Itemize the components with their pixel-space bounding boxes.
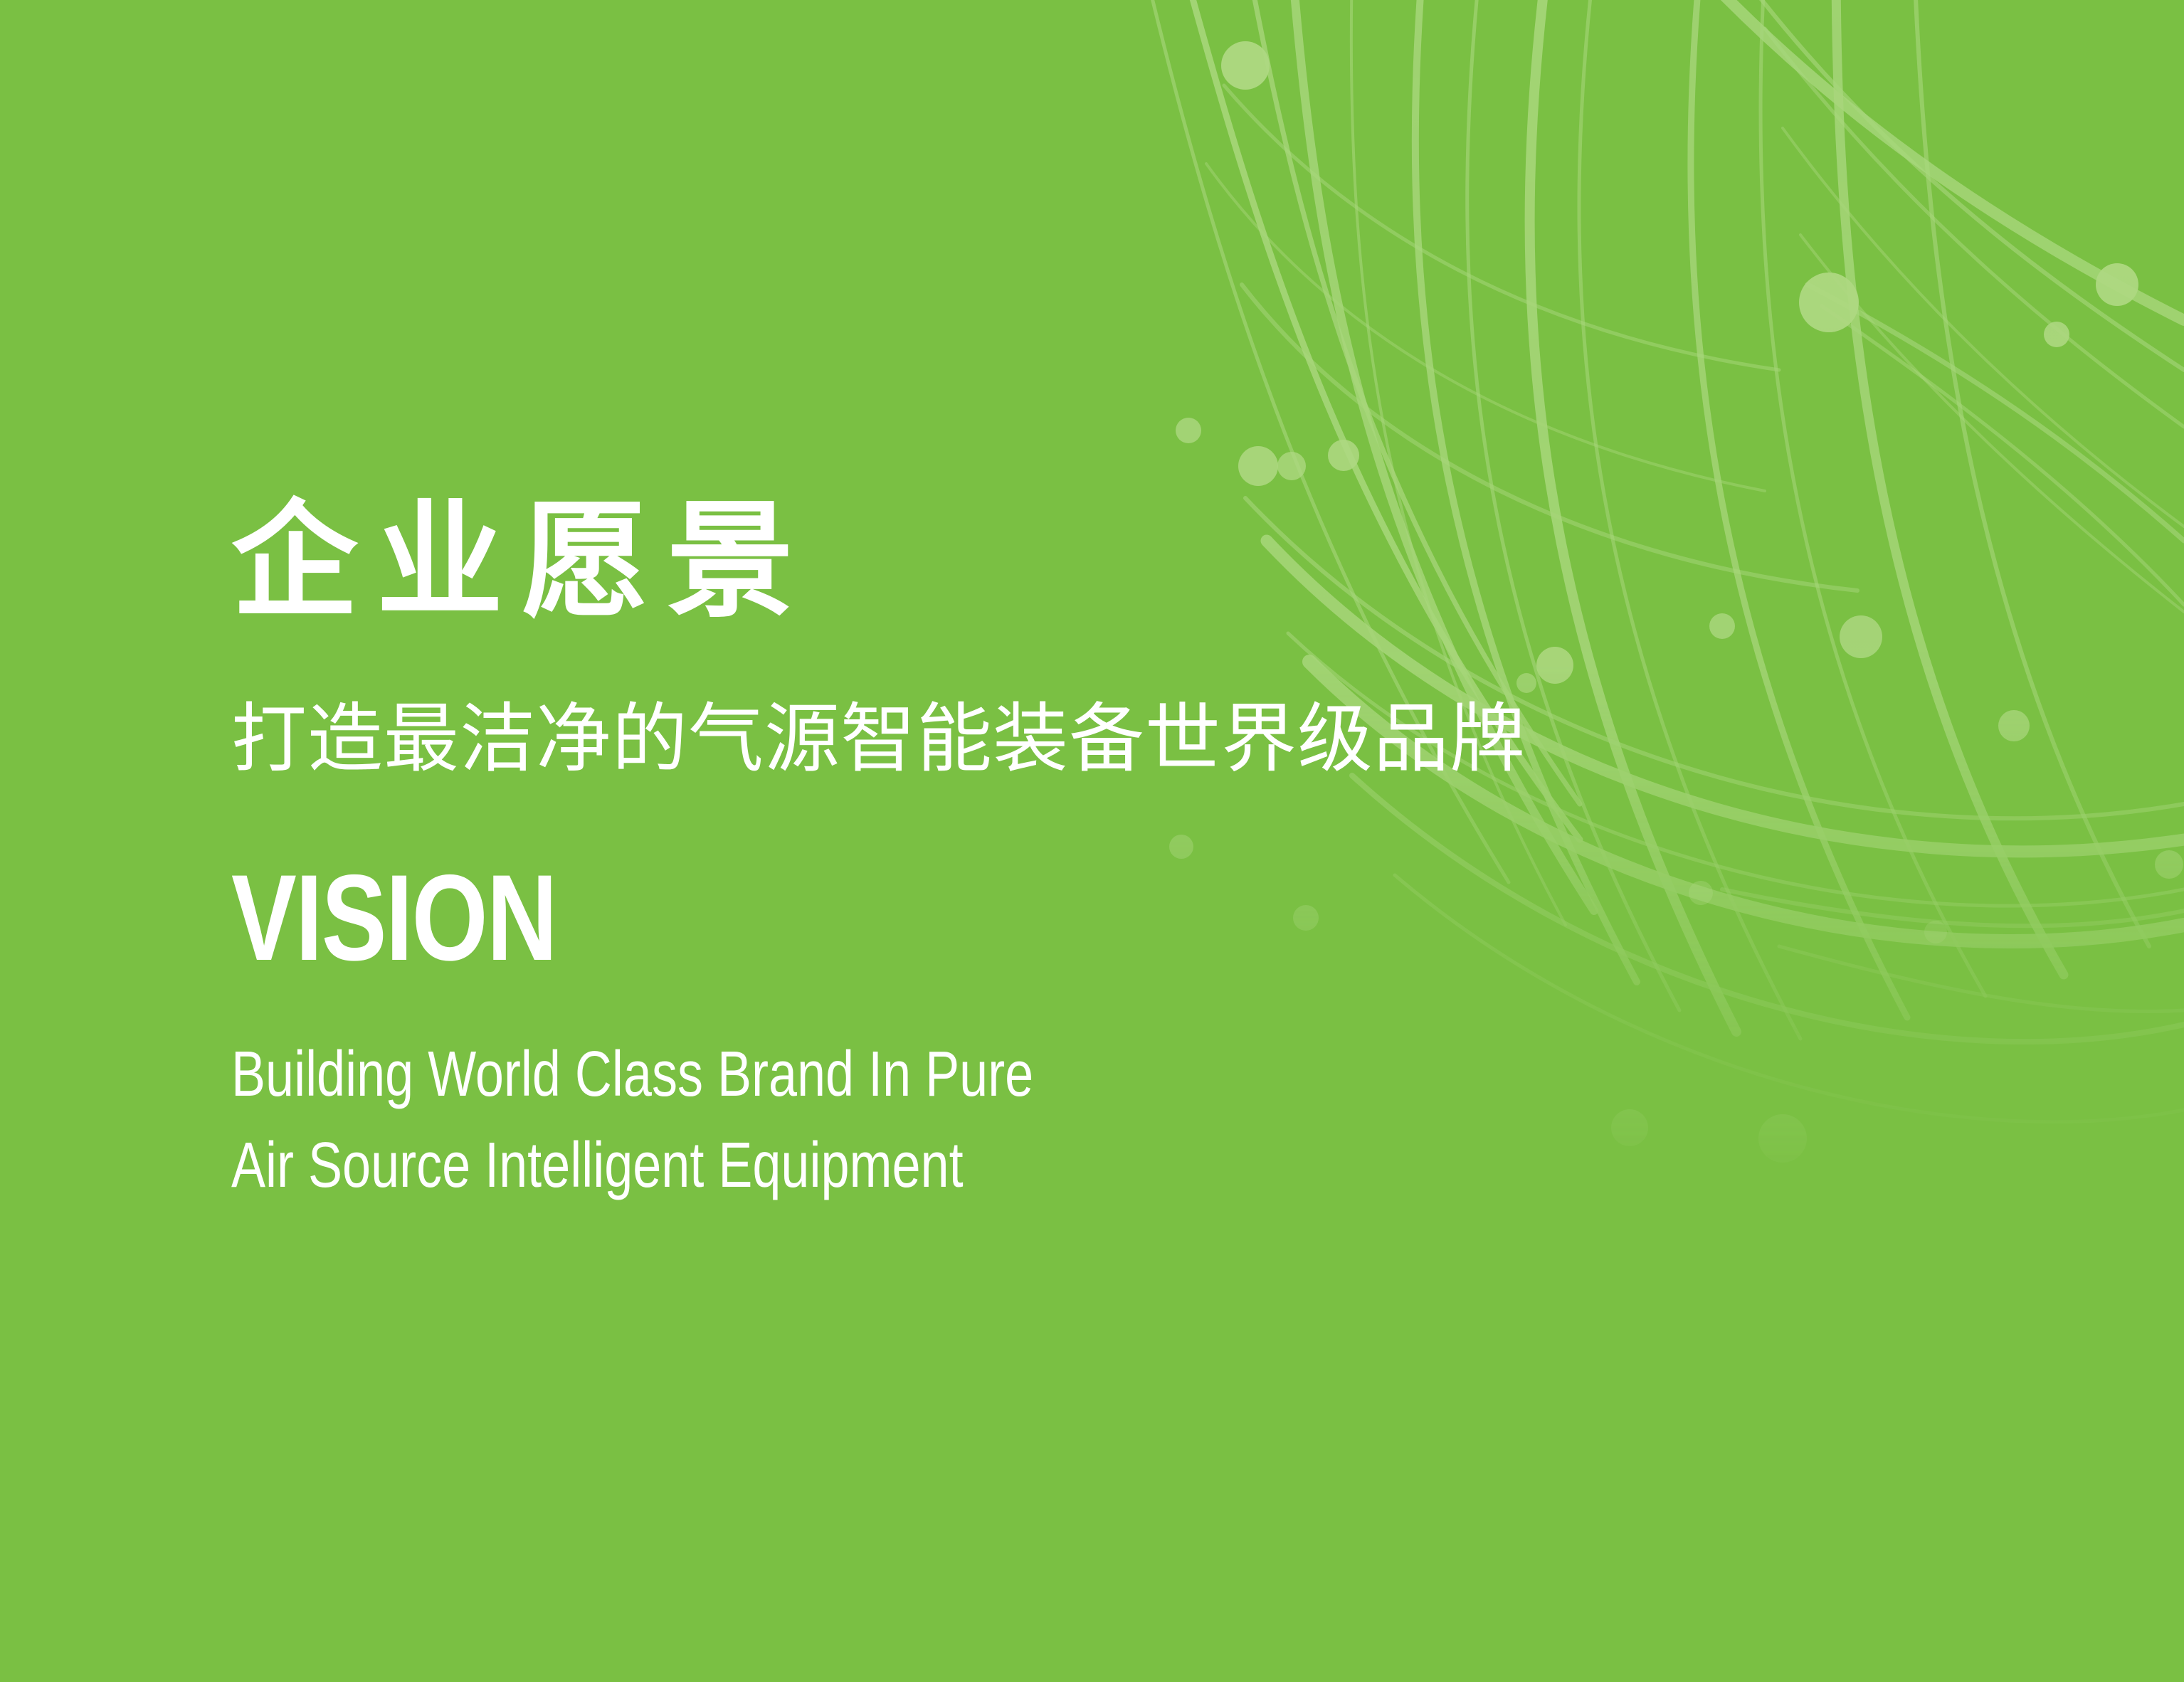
english-subtitle-block: Building World Class Brand In Pure Air S… xyxy=(231,1029,2010,1211)
vision-slide: 企业愿景 打造最洁净的气源智能装备世界级品牌 VISION Building W… xyxy=(0,0,2184,1682)
page-title-chinese: 企业愿景 xyxy=(231,498,2010,625)
slide-text-block: 企业愿景 打造最洁净的气源智能装备世界级品牌 VISION Building W… xyxy=(231,498,2010,1211)
subtitle-chinese: 打造最洁净的气源智能装备世界级品牌 xyxy=(231,702,2010,777)
english-subtitle-line-2: Air Source Intelligent Equipment xyxy=(231,1120,1655,1211)
english-subtitle-line-1: Building World Class Brand In Pure xyxy=(231,1029,1655,1120)
vision-heading-english: VISION xyxy=(231,857,1655,979)
